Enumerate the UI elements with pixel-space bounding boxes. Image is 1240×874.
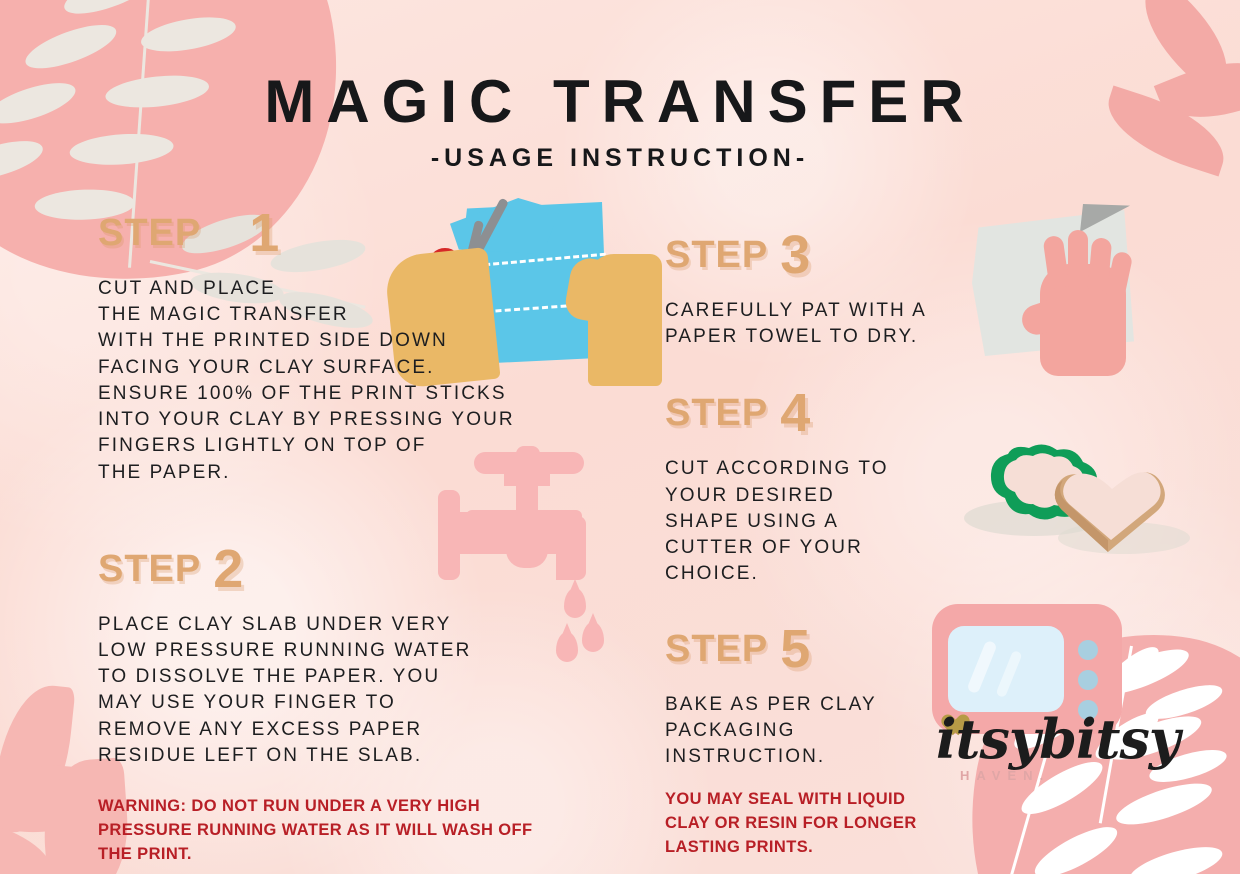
step-block-1: STEP1 CUT AND PLACE THE MAGIC TRANSFER W… <box>98 206 618 486</box>
cookie-cutters-svg <box>962 412 1194 562</box>
step-4-number: 4 <box>780 383 810 443</box>
step-3-heading: STEP3 <box>665 228 995 282</box>
logo-tagline: HAVEN. <box>960 768 1050 783</box>
step-5-heading: STEP5 <box>665 622 995 676</box>
step-1-number: 1 <box>249 203 279 263</box>
step-2-heading: STEP2 <box>98 542 618 596</box>
oven-knob-2 <box>1078 670 1098 690</box>
step-4-heading: STEP4 <box>665 386 995 440</box>
step-2-label: STEP <box>98 548 201 590</box>
pat-hand-finger-2 <box>1068 230 1088 288</box>
step-block-4: STEP4 CUT ACCORDING TO YOUR DESIRED SHAP… <box>665 386 995 587</box>
brand-logo: itsybitsy HAVEN. <box>916 706 1166 802</box>
left-column: STEP1 CUT AND PLACE THE MAGIC TRANSFER W… <box>98 206 618 867</box>
step-1-label: STEP <box>98 212 201 254</box>
step-4-body: CUT ACCORDING TO YOUR DESIRED SHAPE USIN… <box>665 456 995 587</box>
oven-knob-1 <box>1078 640 1098 660</box>
step-block-2: STEP2 PLACE CLAY SLAB UNDER VERY LOW PRE… <box>98 542 618 769</box>
step-3-body: CAREFULLY PAT WITH A PAPER TOWEL TO DRY. <box>665 298 995 350</box>
step-2-number: 2 <box>213 539 243 599</box>
step-5-label: STEP <box>665 628 768 670</box>
step-4-label: STEP <box>665 392 768 434</box>
page-subtitle: -USAGE INSTRUCTION- <box>0 144 1240 173</box>
logo-wordmark: itsybitsy <box>936 712 1179 766</box>
step-5-number: 5 <box>780 619 810 679</box>
step-1-heading: STEP1 <box>98 206 618 260</box>
poster-header: MAGIC TRANSFER -USAGE INSTRUCTION- <box>0 72 1240 173</box>
illustration-pat-dry-towel <box>968 196 1178 376</box>
page-title: MAGIC TRANSFER <box>0 72 1240 132</box>
step-2-body: PLACE CLAY SLAB UNDER VERY LOW PRESSURE … <box>98 612 618 769</box>
step-block-3: STEP3 CAREFULLY PAT WITH A PAPER TOWEL T… <box>665 228 995 350</box>
warning-note-left: WARNING: DO NOT RUN UNDER A VERY HIGH PR… <box>98 795 618 867</box>
step-1-body: CUT AND PLACE THE MAGIC TRANSFER WITH TH… <box>98 276 618 486</box>
illustration-cookie-cutters <box>962 412 1194 562</box>
step-3-number: 3 <box>780 225 810 285</box>
poster-canvas: MAGIC TRANSFER -USAGE INSTRUCTION- <box>0 0 1240 874</box>
step-3-label: STEP <box>665 234 768 276</box>
